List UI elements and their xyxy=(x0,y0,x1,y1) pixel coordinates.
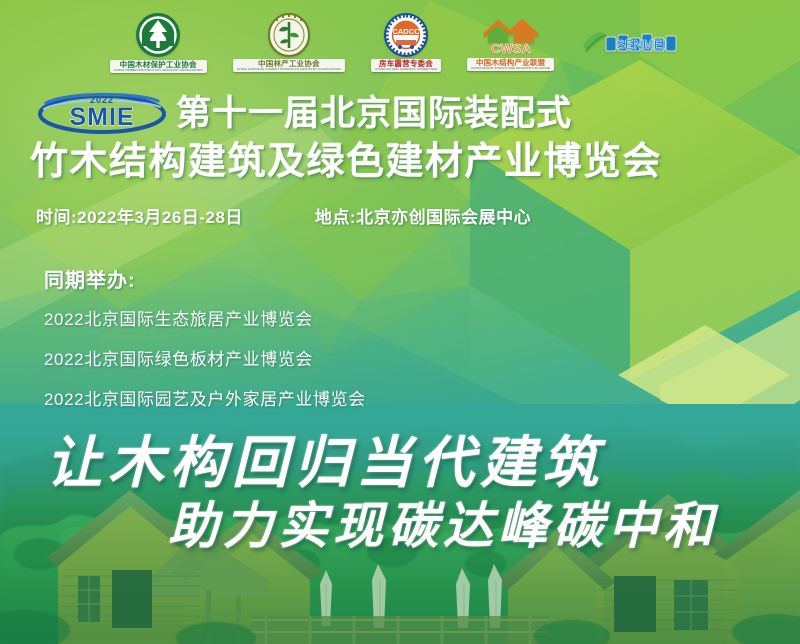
concurrent-events-heading: 同期举办: xyxy=(44,264,366,293)
logo-caption: 中国林产工业协会 CHINA NATIONAL FOREST PRODUCTS … xyxy=(233,59,345,72)
smie-logo: 2022 SMIE xyxy=(36,89,168,140)
cadcc-oval-badge-icon: CADCC xyxy=(383,12,429,58)
svg-text:CADCC: CADCC xyxy=(392,27,420,36)
logo-caption-cn: 中国木材保护工业协会 xyxy=(114,61,203,69)
bamboo-in-oval-icon xyxy=(267,12,311,58)
event-venue: 地点:北京亦创国际会展中心 xyxy=(315,203,531,228)
association-logo-bar: 中国木材保护工业协会 CHINA TIMBER PROTECTION INDUS… xyxy=(0,0,800,84)
poster-headline: 2022 SMIE 第十一届北京国际装配式 竹木结构建筑及绿色建材产业博览会 xyxy=(0,90,800,184)
house-roof-cwsa-icon: CWSA xyxy=(480,13,542,57)
logo-caption-en: CHINA NATIONAL FOREST PRODUCTS INDUSTRY … xyxy=(237,68,341,71)
list-item: 2022北京国际生态旅居产业博览会 xyxy=(44,305,366,330)
smie-logo-wordmark: SMIE xyxy=(69,103,134,131)
cadcc-rv-camping-committee-logo: CADCC 房车露营专委会 CHINA RV AND CAMPING COMMI… xyxy=(371,12,441,72)
event-date: 时间:2022年3月26日-28日 xyxy=(36,203,243,228)
list-item: 2022北京国际园艺及户外家居产业博览会 xyxy=(44,385,366,410)
logo-caption: 中国木材保护工业协会 CHINA TIMBER PROTECTION INDUS… xyxy=(110,60,207,73)
logo-caption-cn: 中国林产工业协会 xyxy=(237,60,341,68)
logo-caption-en: CHINA WOOD STRUCTURE INDUSTRY ALLIANCE xyxy=(471,67,550,70)
concurrent-events-block: 同期举办: 2022北京国际生态旅居产业博览会 2022北京国际绿色板材产业博览… xyxy=(44,264,366,425)
title-line-2: 竹木结构建筑及绿色建材产业博览会 xyxy=(0,140,800,184)
bamboo-industry-association-logo: 中国林产工业协会 CHINA NATIONAL FOREST PRODUCTS … xyxy=(233,12,345,72)
logo-caption-en: CHINA RV AND CAMPING COMMITTEE xyxy=(375,68,437,71)
cwsa-china-wood-structure-industry-alliance-logo: CWSA 中国木结构产业联盟 CHINA WOOD STRUCTURE INDU… xyxy=(467,13,554,71)
exhibition-poster: 中国木材保护工业协会 CHINA TIMBER PROTECTION INDUS… xyxy=(0,0,800,644)
senmei-logo: SENMEI xyxy=(580,25,690,59)
senmei-wordmark-text: SENMEI xyxy=(616,37,666,52)
senmei-leaf-wordmark-icon: SENMEI xyxy=(580,25,690,59)
logo-caption-en: CHINA TIMBER PROTECTION INDUSTRY ASSOCIA… xyxy=(114,69,203,72)
pine-tree-in-circle-icon xyxy=(134,11,182,59)
logo-caption: 房车露营专委会 CHINA RV AND CAMPING COMMITTEE xyxy=(371,59,441,72)
title-line-1: 第十一届北京国际装配式 xyxy=(176,94,572,134)
event-meta: 时间:2022年3月26日-28日 地点:北京亦创国际会展中心 xyxy=(36,203,531,228)
slogan-line-2: 助力实现碳达峰碳中和 xyxy=(168,486,718,558)
concurrent-events-list: 2022北京国际生态旅居产业博览会 2022北京国际绿色板材产业博览会 2022… xyxy=(44,305,366,410)
logo-caption-cn: 中国木结构产业联盟 xyxy=(471,59,550,67)
logo-caption-cn: 房车露营专委会 xyxy=(375,60,437,68)
china-timber-protection-industry-association-logo: 中国木材保护工业协会 CHINA TIMBER PROTECTION INDUS… xyxy=(110,11,207,73)
logo-caption: 中国木结构产业联盟 CHINA WOOD STRUCTURE INDUSTRY … xyxy=(467,58,554,71)
list-item: 2022北京国际绿色板材产业博览会 xyxy=(44,345,366,370)
svg-text:CWSA: CWSA xyxy=(491,41,531,56)
